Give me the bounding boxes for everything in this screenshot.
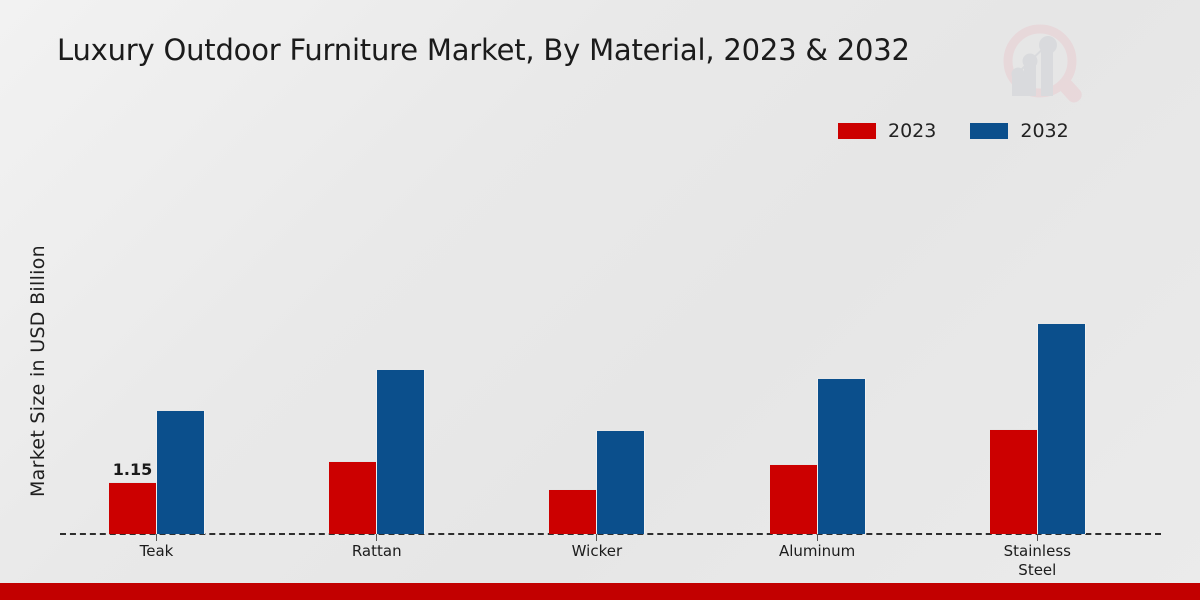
bar-group-wicker: Wicker <box>500 170 720 534</box>
bar-value-teak-2023: 1.15 <box>113 460 152 479</box>
bar-stainless-steel-2032[interactable] <box>1037 323 1086 534</box>
x-tick-wicker <box>596 534 597 541</box>
chart-title: Luxury Outdoor Furniture Market, By Mate… <box>57 33 910 67</box>
bar-group-stainless-steel: Stainless Steel <box>941 170 1161 534</box>
bar-groups: 1.15 Teak Rattan <box>60 170 1161 534</box>
x-tick-stainless-steel <box>1037 534 1038 541</box>
legend-swatch-2032 <box>970 123 1008 139</box>
footer-accent-bar <box>0 583 1200 600</box>
bar-teak-2023[interactable]: 1.15 <box>109 482 156 534</box>
bar-wicker-2032[interactable] <box>596 430 645 534</box>
bars-stainless-steel <box>941 170 1161 534</box>
legend-swatch-2023 <box>838 123 876 139</box>
x-label-teak-line1: Teak <box>60 542 253 561</box>
x-tick-teak <box>156 534 157 541</box>
bar-wicker-2023[interactable] <box>549 489 596 534</box>
legend-item-2023[interactable]: 2023 <box>838 120 936 142</box>
bar-aluminum-2032[interactable] <box>817 378 866 534</box>
bar-group-teak: 1.15 Teak <box>60 170 280 534</box>
x-label-rattan: Rattan <box>280 542 500 561</box>
x-label-teak: Teak <box>60 542 280 561</box>
x-label-wicker: Wicker <box>500 542 720 561</box>
legend-label-2032: 2032 <box>1020 120 1068 142</box>
x-label-aluminum-line1: Aluminum <box>721 542 914 561</box>
legend-item-2032[interactable]: 2032 <box>970 120 1068 142</box>
bar-group-rattan: Rattan <box>280 170 500 534</box>
chart-canvas: Luxury Outdoor Furniture Market, By Mate… <box>0 0 1200 600</box>
bar-rattan-2032[interactable] <box>376 369 425 534</box>
bar-rattan-2023[interactable] <box>329 461 376 534</box>
x-label-wicker-line1: Wicker <box>500 542 693 561</box>
bars-teak: 1.15 <box>60 170 280 534</box>
bar-teak-2032[interactable] <box>156 410 205 534</box>
bars-rattan <box>280 170 500 534</box>
bar-group-aluminum: Aluminum <box>721 170 941 534</box>
legend-label-2023: 2023 <box>888 120 936 142</box>
x-label-stainless-steel-line1: Stainless <box>941 542 1134 561</box>
bar-aluminum-2023[interactable] <box>770 464 817 534</box>
y-axis-title: Market Size in USD Billion <box>27 181 49 561</box>
x-tick-rattan <box>376 534 377 541</box>
x-tick-aluminum <box>817 534 818 541</box>
bars-aluminum <box>721 170 941 534</box>
x-label-aluminum: Aluminum <box>721 542 941 561</box>
x-label-stainless-steel-line2: Steel <box>941 561 1134 580</box>
watermark-logo-icon <box>995 18 1095 113</box>
bars-wicker <box>500 170 720 534</box>
x-label-stainless-steel: Stainless Steel <box>941 542 1161 580</box>
x-label-rattan-line1: Rattan <box>280 542 473 561</box>
chart-legend: 2023 2032 <box>838 120 1069 142</box>
bar-stainless-steel-2023[interactable] <box>990 429 1037 534</box>
